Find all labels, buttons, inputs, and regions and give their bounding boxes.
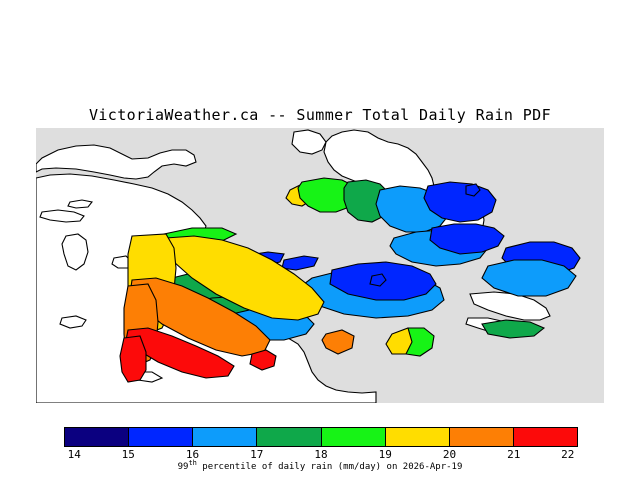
caption-prefix: 99 [178, 462, 189, 472]
map-canvas[interactable] [36, 128, 604, 403]
colorbar-segment-15-16[interactable] [129, 428, 193, 446]
colorbar-caption: 99th percentile of daily rain (mm/day) o… [0, 459, 640, 472]
page-title: VictoriaWeather.ca -- Summer Total Daily… [0, 106, 640, 124]
land-sliver-island-west-two [68, 200, 92, 208]
caption-rest: percentile of daily rain (mm/day) on 202… [197, 462, 463, 472]
colorbar-segment-14-15[interactable] [65, 428, 129, 446]
colorbar-segment-16-17[interactable] [193, 428, 257, 446]
colorbar-segment-18-19[interactable] [322, 428, 386, 446]
colorbar-segment-21-22[interactable] [514, 428, 577, 446]
map-panel[interactable] [36, 128, 604, 403]
colorbar-segment-17-18[interactable] [257, 428, 321, 446]
colorbar-segment-19-20[interactable] [386, 428, 450, 446]
caption-ordinal-suffix: th [188, 459, 196, 467]
colorbar-segment-20-21[interactable] [450, 428, 514, 446]
region-southwest-red-column[interactable] [120, 336, 146, 382]
colorbar[interactable] [64, 427, 578, 447]
